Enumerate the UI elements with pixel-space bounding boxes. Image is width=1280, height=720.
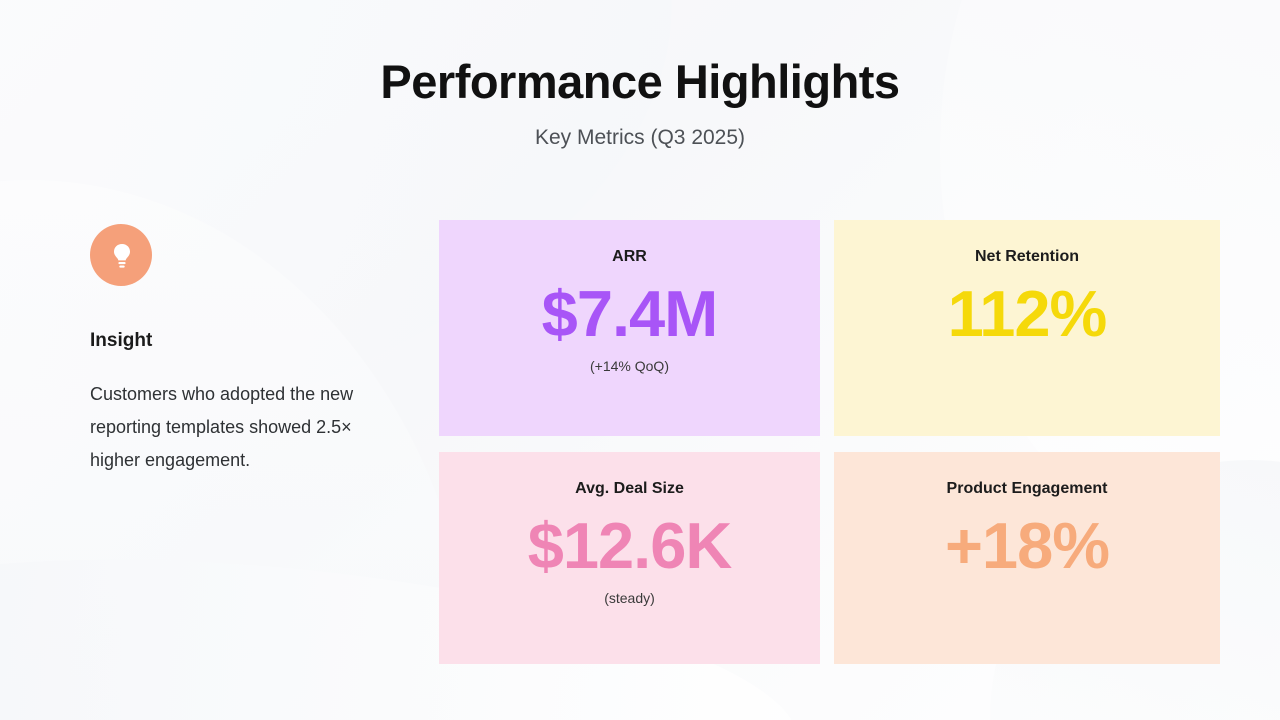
metrics-grid: ARR $7.4M (+14% QoQ) Net Retention 112% … (439, 220, 1220, 664)
metric-card-net-retention: Net Retention 112% (834, 220, 1220, 436)
metric-value: $7.4M (542, 280, 718, 348)
slide-content: Performance Highlights Key Metrics (Q3 2… (0, 0, 1280, 720)
insight-text: Customers who adopted the new reporting … (90, 378, 370, 477)
lightbulb-icon (111, 242, 131, 268)
metric-note: (+14% QoQ) (590, 358, 669, 374)
metric-label: Product Engagement (947, 480, 1108, 498)
insight-badge (90, 224, 152, 286)
metric-card-arr: ARR $7.4M (+14% QoQ) (439, 220, 820, 436)
metric-card-avg-deal-size: Avg. Deal Size $12.6K (steady) (439, 452, 820, 664)
metric-label: Avg. Deal Size (575, 480, 684, 498)
insight-panel: Insight Customers who adopted the new re… (90, 224, 370, 477)
metric-label: Net Retention (975, 248, 1079, 266)
metric-value: 112% (948, 280, 1107, 348)
metric-note: (steady) (604, 590, 655, 606)
page-title: Performance Highlights (0, 54, 1280, 109)
metric-value: +18% (945, 512, 1109, 580)
insight-label: Insight (90, 330, 370, 352)
page-subtitle: Key Metrics (Q3 2025) (0, 126, 1280, 150)
metric-label: ARR (612, 248, 647, 266)
metric-card-product-engagement: Product Engagement +18% (834, 452, 1220, 664)
metric-value: $12.6K (528, 512, 732, 580)
slide-canvas: Performance Highlights Key Metrics (Q3 2… (0, 0, 1280, 720)
